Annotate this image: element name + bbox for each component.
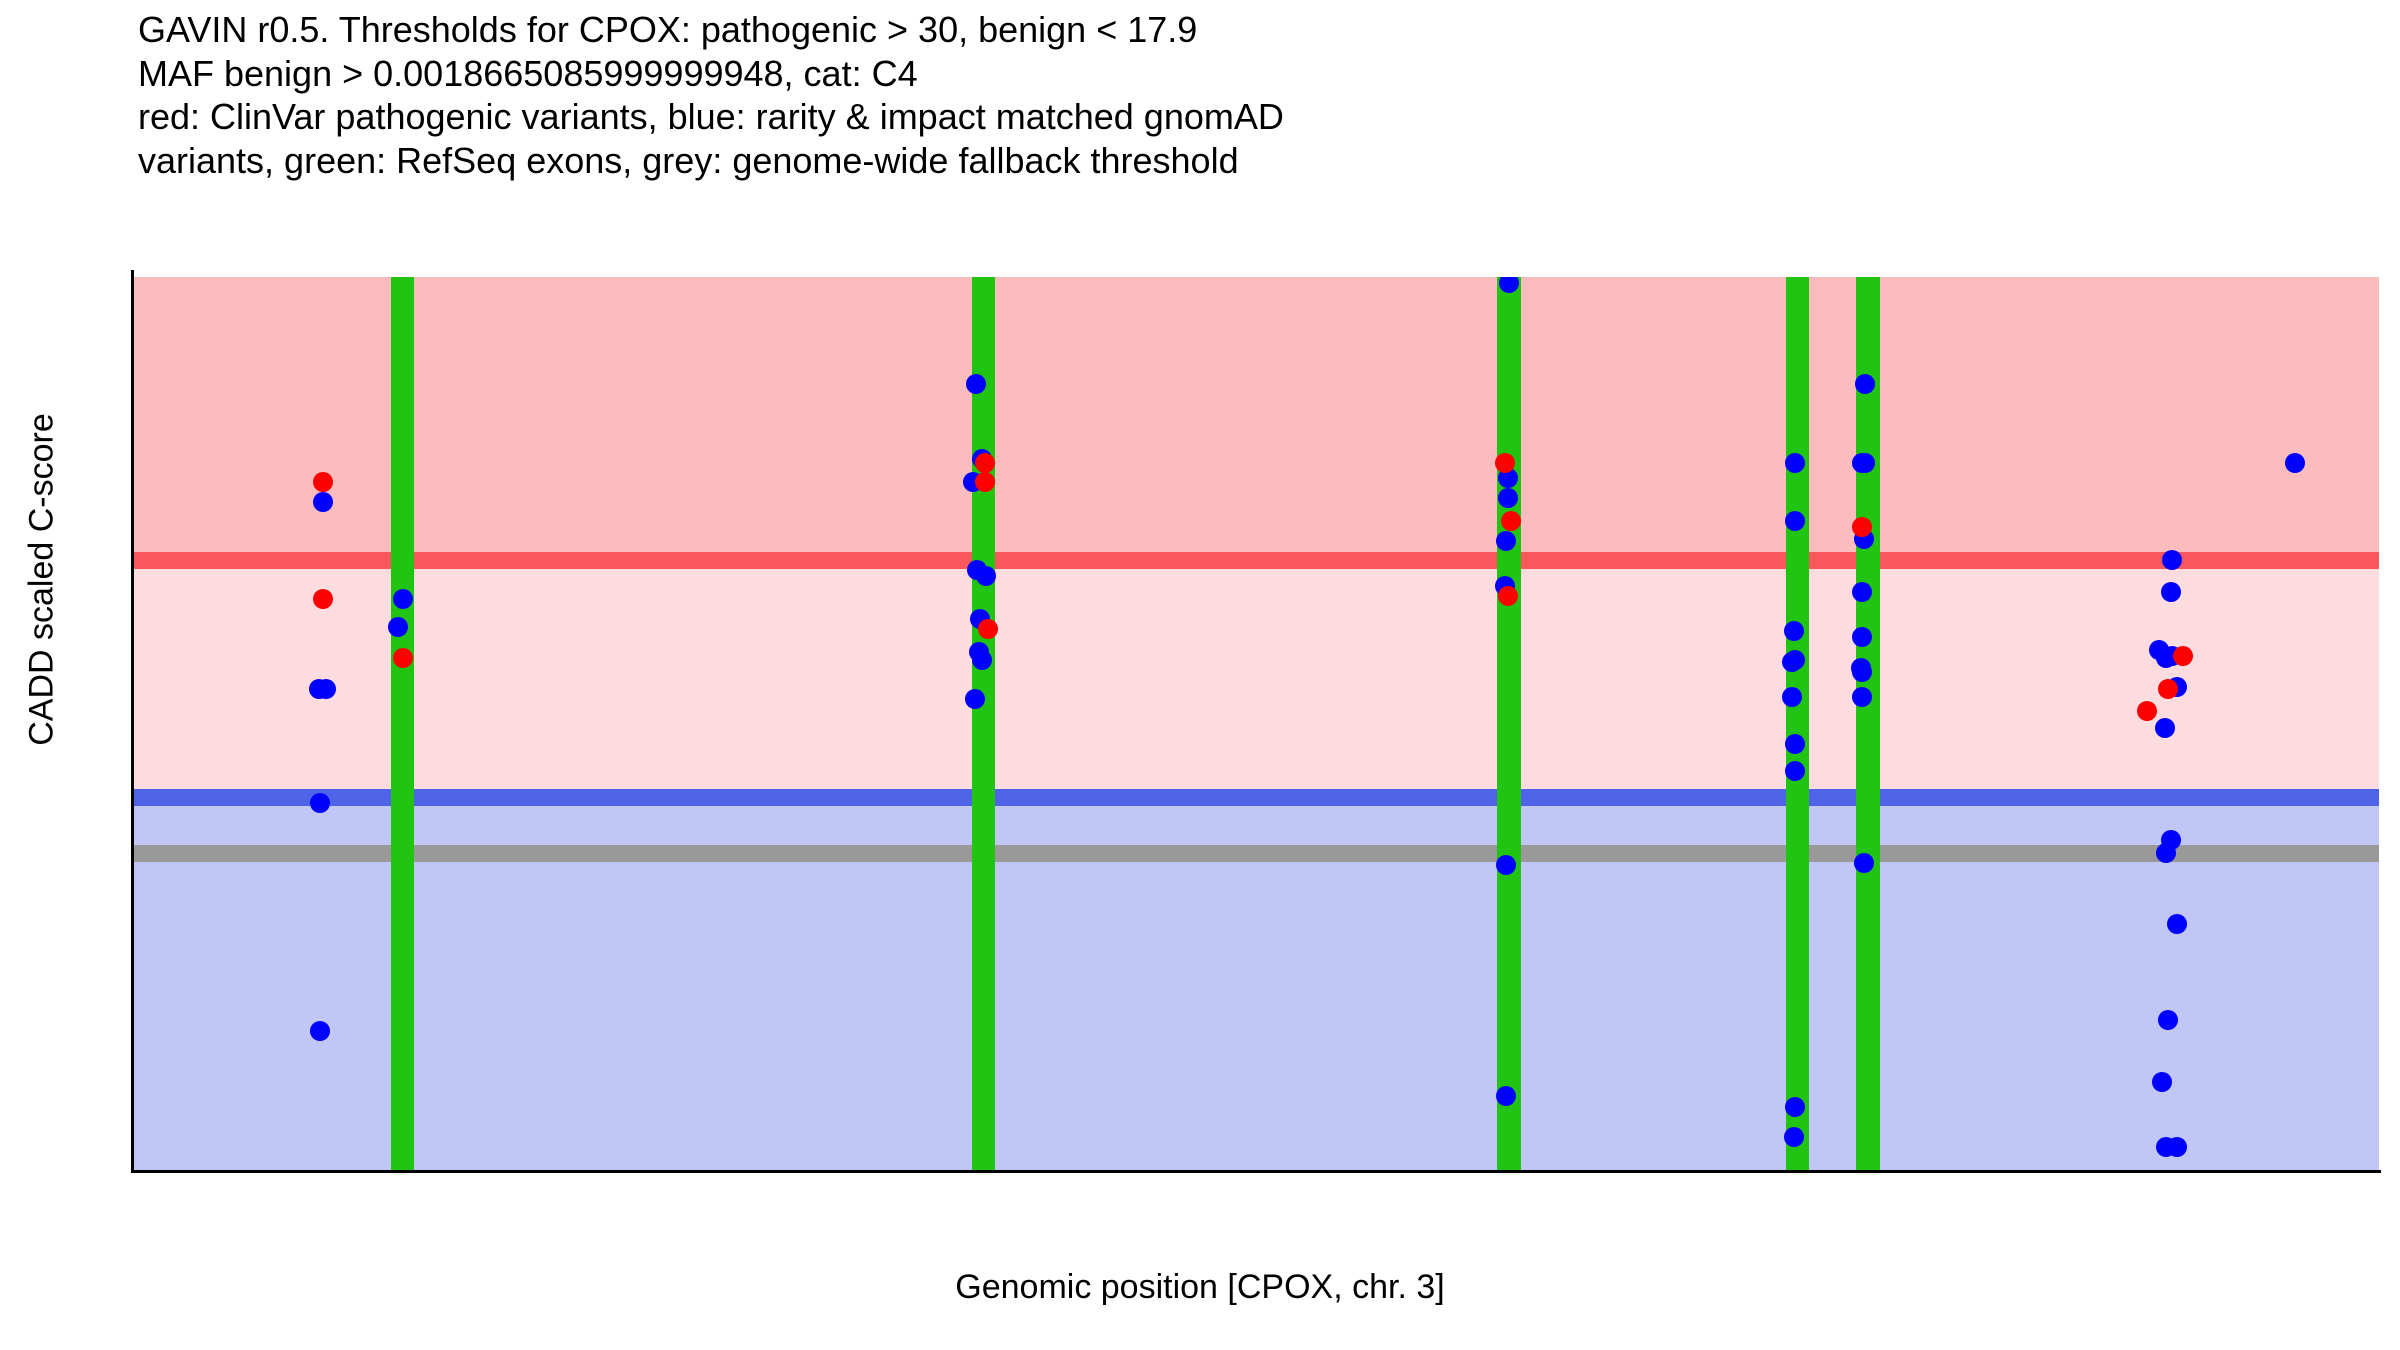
data-point-blue <box>1784 1127 1804 1147</box>
x-axis-title: Genomic position [CPOX, chr. 3] <box>0 1268 2400 1307</box>
title-line-3: red: ClinVar pathogenic variants, blue: … <box>138 95 2338 139</box>
data-point-blue <box>313 492 333 512</box>
y-axis-line <box>131 270 134 1173</box>
y-axis-title: CADD scaled C-score <box>23 260 62 900</box>
data-point-blue <box>2167 1137 2187 1157</box>
data-point-blue <box>2152 1072 2172 1092</box>
chart-title-block: GAVIN r0.5. Thresholds for CPOX: pathoge… <box>138 8 2338 182</box>
exon-bar <box>391 277 415 1170</box>
data-point-red <box>2137 701 2157 721</box>
data-point-blue <box>1854 853 1874 873</box>
title-line-1: GAVIN r0.5. Thresholds for CPOX: pathoge… <box>138 8 2338 52</box>
data-point-blue <box>2161 582 2181 602</box>
data-point-red <box>393 648 413 668</box>
data-point-blue <box>1852 582 1872 602</box>
title-line-2: MAF benign > 0.0018665085999999948, cat:… <box>138 52 2338 96</box>
threshold-line-benign <box>133 789 2379 806</box>
data-point-red <box>1495 453 1515 473</box>
data-point-red <box>2173 646 2193 666</box>
data-point-blue <box>393 589 413 609</box>
title-line-4: variants, green: RefSeq exons, grey: gen… <box>138 139 2338 183</box>
data-point-blue <box>1498 488 1518 508</box>
chart-root: GAVIN r0.5. Thresholds for CPOX: pathoge… <box>0 0 2400 1350</box>
band-vus-region <box>133 560 2379 796</box>
data-point-blue <box>2285 453 2305 473</box>
data-point-blue <box>1496 1086 1516 1106</box>
band-pathogenic-region <box>133 277 2379 560</box>
data-point-blue <box>1785 734 1805 754</box>
plot-panel <box>133 277 2379 1170</box>
exon-bar <box>1786 277 1808 1170</box>
data-point-blue <box>1782 687 1802 707</box>
threshold-line-genome-wide-fallback <box>133 845 2379 862</box>
data-point-blue <box>965 689 985 709</box>
data-point-red <box>1501 511 1521 531</box>
exon-bar <box>972 277 996 1170</box>
data-point-blue <box>972 650 992 670</box>
threshold-line-pathogenic <box>133 552 2379 569</box>
data-point-blue <box>2158 1010 2178 1030</box>
data-point-blue <box>2167 914 2187 934</box>
data-point-red <box>975 453 995 473</box>
data-point-red <box>1498 586 1518 606</box>
data-point-blue <box>310 793 330 813</box>
exon-bar <box>1856 277 1880 1170</box>
x-axis-line <box>131 1170 2381 1173</box>
data-point-blue <box>1784 621 1804 641</box>
data-point-blue <box>1496 531 1516 551</box>
data-point-blue <box>1852 453 1872 473</box>
data-point-blue <box>1852 627 1872 647</box>
data-point-red <box>975 472 995 492</box>
data-point-blue <box>388 617 408 637</box>
exon-bar <box>1497 277 1521 1170</box>
data-point-blue <box>1782 652 1802 672</box>
data-point-blue <box>1785 453 1805 473</box>
data-point-red <box>978 619 998 639</box>
data-point-blue <box>1852 662 1872 682</box>
